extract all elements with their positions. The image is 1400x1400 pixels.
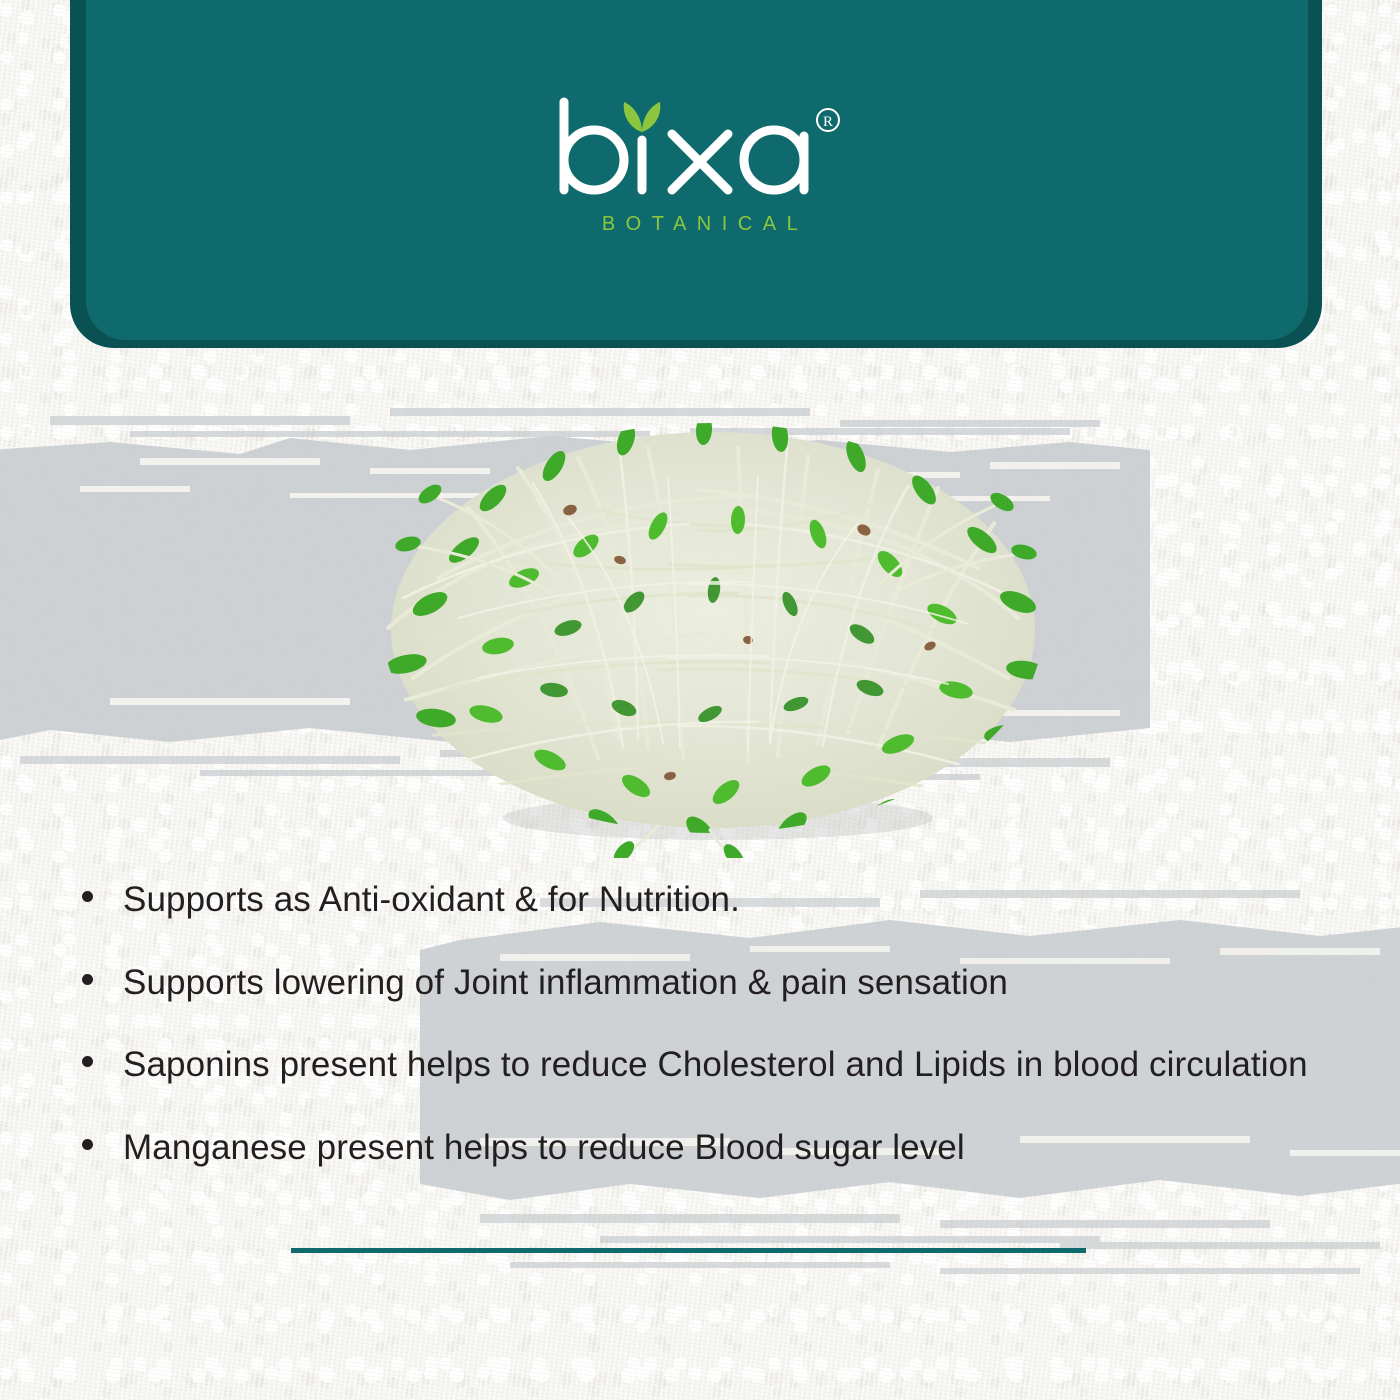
svg-text:R: R <box>823 114 833 130</box>
bullet-icon <box>82 891 93 902</box>
footer-divider <box>291 1248 1086 1253</box>
benefit-text: Manganese present helps to reduce Blood … <box>123 1120 965 1177</box>
logo-tagline: BOTANICAL <box>592 213 808 236</box>
registered-trademark-icon: R <box>817 109 839 131</box>
brand-logo: R BOTANICAL <box>0 96 1400 236</box>
list-item: Saponins present helps to reduce Cholest… <box>72 1037 1342 1094</box>
benefit-text: Saponins present helps to reduce Cholest… <box>123 1037 1308 1094</box>
bullet-icon <box>82 1139 93 1150</box>
benefits-list: Supports as Anti-oxidant & for Nutrition… <box>72 872 1342 1203</box>
benefit-text: Supports lowering of Joint inflammation … <box>123 955 1008 1012</box>
benefit-text: Supports as Anti-oxidant & for Nutrition… <box>123 872 740 929</box>
bullet-icon <box>82 1056 93 1067</box>
list-item: Supports as Anti-oxidant & for Nutrition… <box>72 872 1342 929</box>
bullet-icon <box>82 974 93 985</box>
alfalfa-sprouts-photo <box>318 378 1108 858</box>
product-benefits-infographic: R BOTANICAL <box>0 0 1400 1400</box>
sprout-leaf-icon <box>624 102 661 132</box>
list-item: Supports lowering of Joint inflammation … <box>72 955 1342 1012</box>
logo-wordmark: R <box>550 96 850 211</box>
list-item: Manganese present helps to reduce Blood … <box>72 1120 1342 1177</box>
